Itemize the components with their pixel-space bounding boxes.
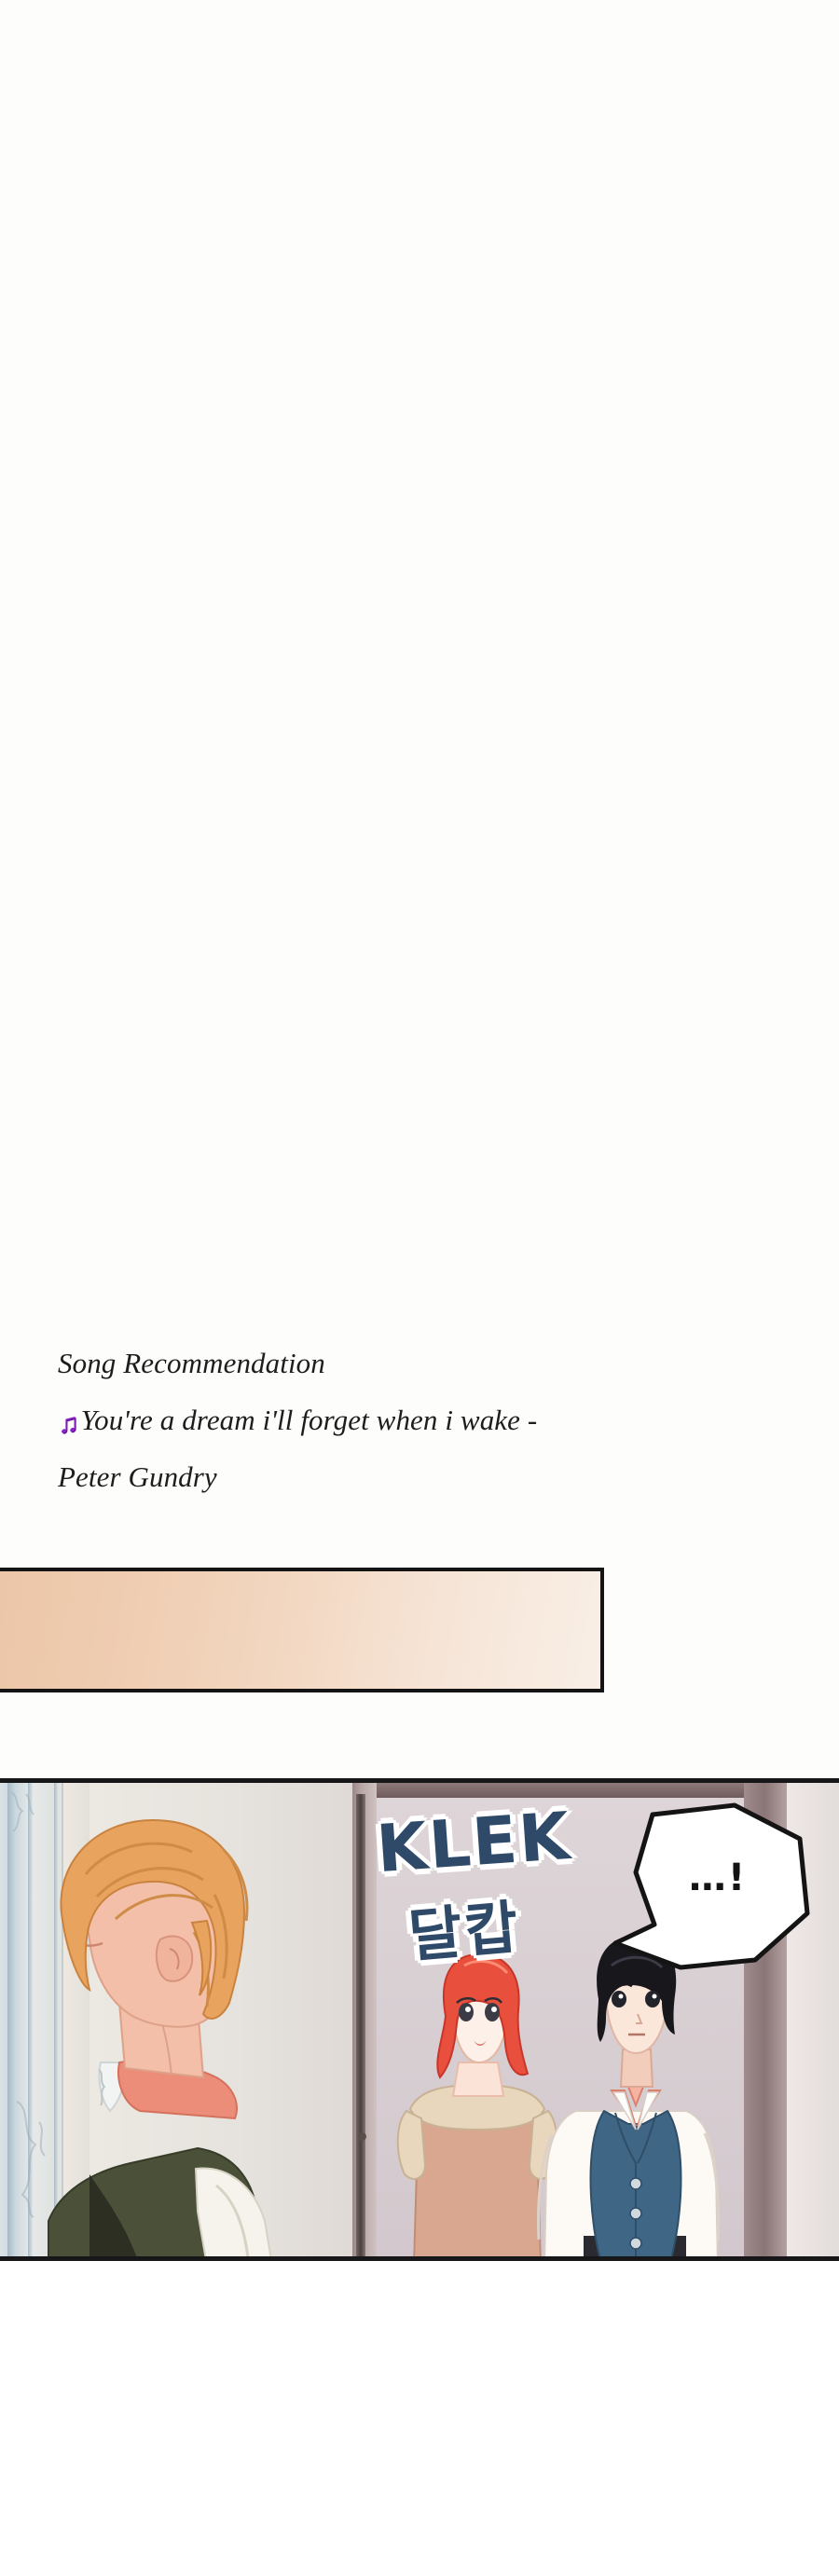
- song-recommendation-block: Song Recommendation ♫You're a dream i'll…: [58, 1335, 804, 1505]
- song-recommendation-track-line-1: ♫You're a dream i'll forget when i wake …: [58, 1391, 804, 1448]
- top-whitespace: [0, 0, 839, 1314]
- song-recommendation-heading: Song Recommendation: [58, 1335, 804, 1391]
- song-track-text-1: You're a dream i'll forget when i wake -: [81, 1404, 538, 1436]
- sfx-korean-text: 달캅: [405, 1880, 523, 1973]
- page-canvas: Song Recommendation ♫You're a dream i'll…: [0, 0, 839, 2576]
- music-note-icon: ♫: [58, 1410, 79, 1438]
- speech-bubble-text: …!: [630, 1857, 805, 1899]
- gradient-strip: [0, 1568, 604, 1692]
- bottom-whitespace: [0, 2261, 839, 2576]
- sfx-english-text: KLEK: [374, 1798, 573, 1887]
- song-recommendation-track-line-2: Peter Gundry: [58, 1448, 804, 1505]
